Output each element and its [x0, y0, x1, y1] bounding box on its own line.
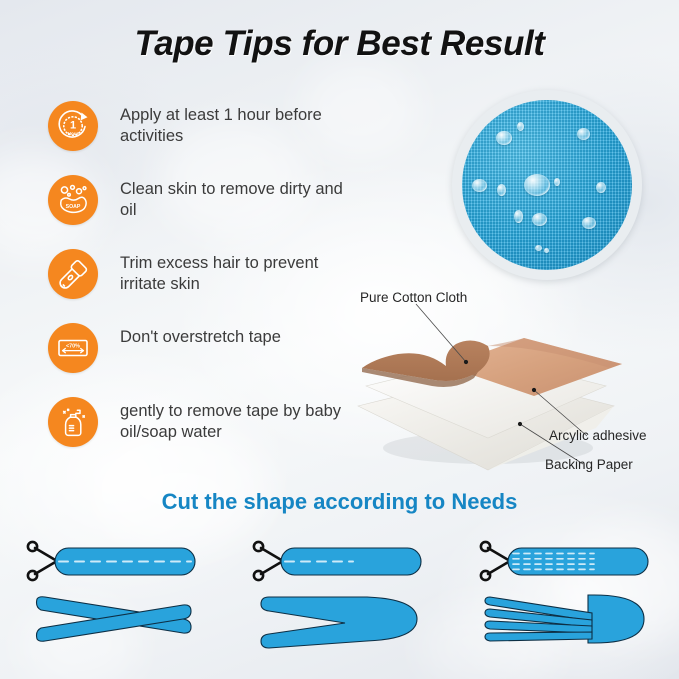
cut-shape-x [0, 533, 226, 653]
water-droplet [582, 217, 596, 229]
water-droplet [524, 174, 550, 196]
tape-strip-with-multi-cuts [476, 539, 656, 583]
water-droplet [554, 178, 560, 186]
scissors-icon [481, 542, 510, 580]
water-droplet [535, 245, 542, 251]
soap-bar-icon: SOAP [48, 175, 98, 225]
water-droplet [532, 213, 547, 226]
label-pure-cotton-cloth: Pure Cotton Cloth [360, 290, 467, 305]
label-acrylic-adhesive: Arcylic adhesive [549, 428, 647, 443]
tip-label: gently to remove tape by baby oil/soap w… [120, 395, 348, 443]
x-cross-tape-result [23, 589, 203, 649]
tip-item-remove-with-oil: gently to remove tape by baby oil/soap w… [48, 395, 348, 469]
hair-trimmer-icon [48, 249, 98, 299]
fan-four-prong-tape-result [476, 589, 656, 649]
stretch-limit-icon: <70% [48, 323, 98, 373]
tip-item-apply-1-hour: 1 Hour Apply at least 1 hour before acti… [48, 99, 348, 173]
tip-item-trim-hair: Trim excess hair to prevent irritate ski… [48, 247, 348, 321]
tape-strip-with-center-cut [23, 539, 203, 583]
svg-text:1: 1 [70, 120, 76, 132]
tip-label: Trim excess hair to prevent irritate ski… [120, 247, 348, 295]
water-droplet [517, 122, 524, 131]
tip-label: Don't overstretch tape [120, 321, 281, 348]
infographic-poster: Tape Tips for Best Result 1 Hour Apply a… [0, 0, 679, 679]
cut-shape-gallery [0, 533, 679, 653]
cut-shape-y [226, 533, 452, 653]
tip-item-clean-skin: SOAP Clean skin to remove dirty and oil [48, 173, 348, 247]
cut-shape-fan [453, 533, 679, 653]
scissors-icon [254, 542, 283, 580]
water-droplet [472, 179, 487, 192]
clock-one-hour-icon: 1 Hour [48, 101, 98, 151]
water-droplet [514, 210, 523, 223]
tips-list: 1 Hour Apply at least 1 hour before acti… [48, 99, 348, 469]
water-droplet [497, 184, 506, 196]
label-backing-paper: Backing Paper [545, 457, 633, 472]
tip-item-dont-overstretch: <70% Don't overstretch tape [48, 321, 348, 395]
cut-shape-heading: Cut the shape according to Needs [0, 489, 679, 515]
scissors-icon [28, 542, 57, 580]
fabric-texture [462, 100, 632, 270]
tip-label: Clean skin to remove dirty and oil [120, 173, 348, 221]
waterproof-fabric-swatch [452, 90, 642, 280]
water-droplet [596, 182, 606, 193]
water-droplet [496, 131, 512, 145]
tip-label: Apply at least 1 hour before activities [120, 99, 348, 147]
svg-text:SOAP: SOAP [66, 204, 81, 210]
svg-text:<70%: <70% [66, 343, 80, 349]
tape-strip-with-single-cut [249, 539, 429, 583]
page-title: Tape Tips for Best Result [0, 24, 679, 64]
water-droplet [577, 128, 590, 140]
water-droplet [544, 248, 549, 253]
y-split-tape-result [249, 589, 429, 649]
tape-layer-diagram: Pure Cotton Cloth Arcylic adhesive Backi… [338, 288, 679, 488]
lotion-bottle-icon [48, 397, 98, 447]
svg-text:Hour: Hour [68, 131, 79, 136]
